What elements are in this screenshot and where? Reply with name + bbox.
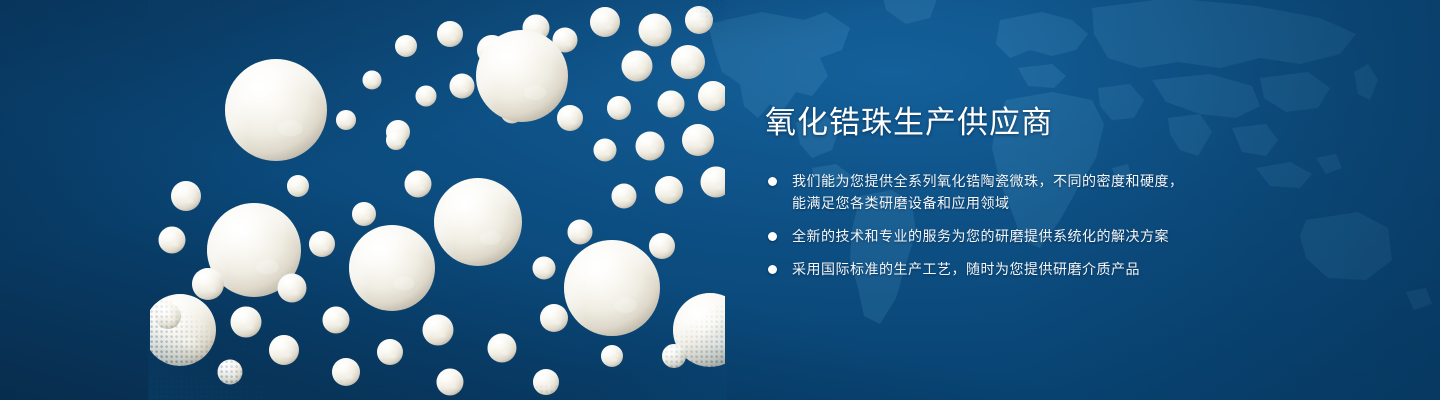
bullet-line: 我们能为您提供全系列氧化锆陶瓷微珠，不同的密度和硬度，: [792, 170, 1325, 192]
hero-banner: 氧化锆珠生产供应商 我们能为您提供全系列氧化锆陶瓷微珠，不同的密度和硬度， 能满…: [0, 0, 1440, 400]
dot-bullet-icon: [768, 177, 777, 186]
list-item: 全新的技术和专业的服务为您的研磨提供系统化的解决方案: [765, 225, 1325, 247]
zirconia-beads-photo: [150, 0, 725, 400]
list-item: 采用国际标准的生产工艺，随时为您提供研磨介质产品: [765, 258, 1325, 280]
list-item: 我们能为您提供全系列氧化锆陶瓷微珠，不同的密度和硬度， 能满足您各类研磨设备和应…: [765, 170, 1325, 214]
bullet-line: 采用国际标准的生产工艺，随时为您提供研磨介质产品: [792, 258, 1325, 280]
bullet-line: 全新的技术和专业的服务为您的研磨提供系统化的解决方案: [792, 225, 1325, 247]
dot-bullet-icon: [768, 265, 777, 274]
banner-copy: 氧化锆珠生产供应商 我们能为您提供全系列氧化锆陶瓷微珠，不同的密度和硬度， 能满…: [765, 104, 1325, 280]
feature-bullet-list: 我们能为您提供全系列氧化锆陶瓷微珠，不同的密度和硬度， 能满足您各类研磨设备和应…: [765, 170, 1325, 280]
bullet-line: 能满足您各类研磨设备和应用领域: [792, 192, 1325, 214]
banner-headline: 氧化锆珠生产供应商: [765, 104, 1325, 142]
beads-illustration: [150, 0, 725, 400]
dot-bullet-icon: [768, 232, 777, 241]
